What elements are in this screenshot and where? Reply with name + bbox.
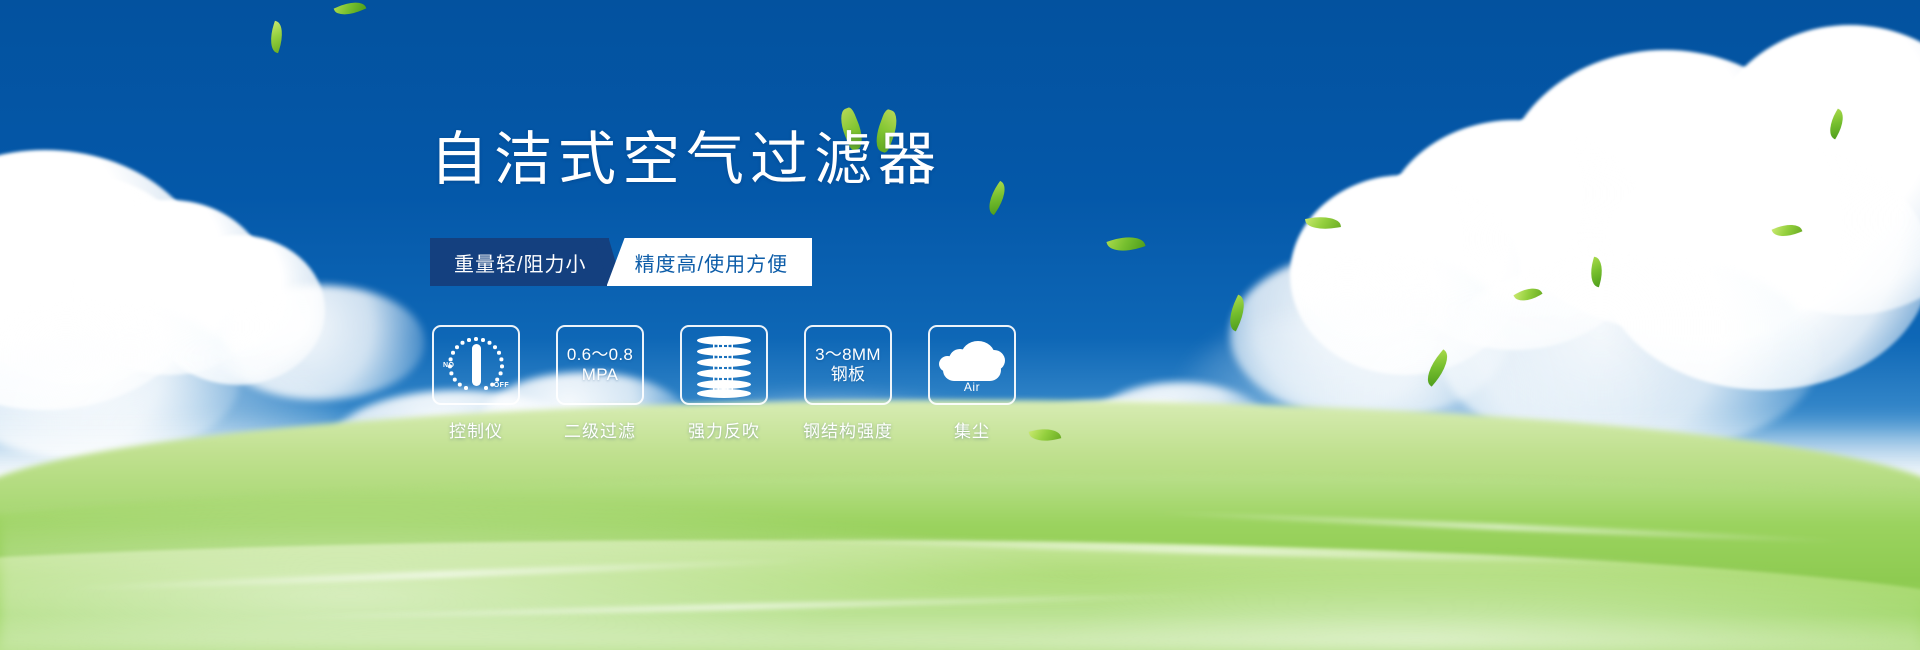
feature-label: 钢结构强度: [803, 417, 893, 442]
gauge-on-label: NO: [443, 362, 454, 369]
gauge-off-label: OFF: [494, 382, 509, 389]
feature-icon-box: 0.6～0.8 MPA: [556, 325, 644, 405]
feature-label: 控制仪: [449, 417, 503, 442]
gauge-icon: NO OFF: [444, 335, 508, 395]
feature-list: NO OFF 控制仪 0.6～0.8 MPA 二级过滤: [432, 325, 1016, 442]
filter-coil-icon: [695, 334, 753, 396]
feature-item-backblow[interactable]: 强力反吹: [680, 325, 768, 442]
pressure-icon: 0.6～0.8 MPA: [567, 345, 633, 385]
feature-label: 强力反吹: [688, 417, 760, 442]
feature-icon-box: [680, 325, 768, 405]
hero-banner: 自洁式空气过滤器 重量轻/阻力小 精度高/使用方便: [0, 0, 1920, 650]
gauge-needle-icon: [472, 344, 481, 386]
subtitle-left-tab[interactable]: 重量轻/阻力小: [430, 238, 609, 286]
steel-plate-icon: 3～8MM 钢板: [815, 345, 881, 385]
feature-label: 二级过滤: [564, 417, 636, 442]
subtitle-bar: 重量轻/阻力小 精度高/使用方便: [430, 238, 812, 286]
feature-item-steel[interactable]: 3～8MM 钢板 钢结构强度: [804, 325, 892, 442]
air-cloud-icon: Air: [939, 341, 1005, 389]
feature-item-control-gauge[interactable]: NO OFF 控制仪: [432, 325, 520, 442]
feature-icon-box: Air: [928, 325, 1016, 405]
air-label: Air: [939, 380, 1005, 394]
feature-item-dust-collect[interactable]: Air 集尘: [928, 325, 1016, 442]
feature-icon-box: NO OFF: [432, 325, 520, 405]
subtitle-right-tab[interactable]: 精度高/使用方便: [607, 238, 813, 286]
page-title: 自洁式空气过滤器: [430, 131, 942, 189]
feature-label: 集尘: [954, 417, 990, 442]
feature-item-pressure[interactable]: 0.6～0.8 MPA 二级过滤: [556, 325, 644, 442]
feature-icon-box: 3～8MM 钢板: [804, 325, 892, 405]
